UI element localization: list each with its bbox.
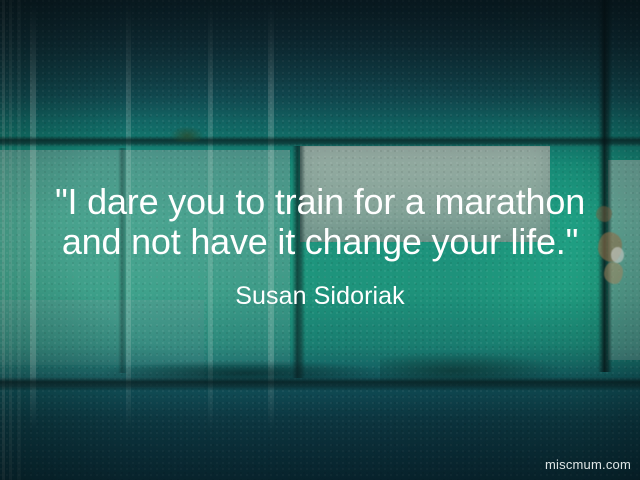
dark-smudge-center <box>380 352 560 386</box>
quote-attribution: Susan Sidoriak <box>0 281 640 311</box>
moss-patch <box>170 126 204 142</box>
site-watermark: miscmum.com <box>545 457 631 473</box>
dark-smudge-left <box>96 360 396 386</box>
mortar-joint-upper <box>0 136 640 147</box>
quote-image: "I dare you to train for a marathon and … <box>0 0 640 480</box>
quote-text: "I dare you to train for a marathon and … <box>0 182 640 262</box>
